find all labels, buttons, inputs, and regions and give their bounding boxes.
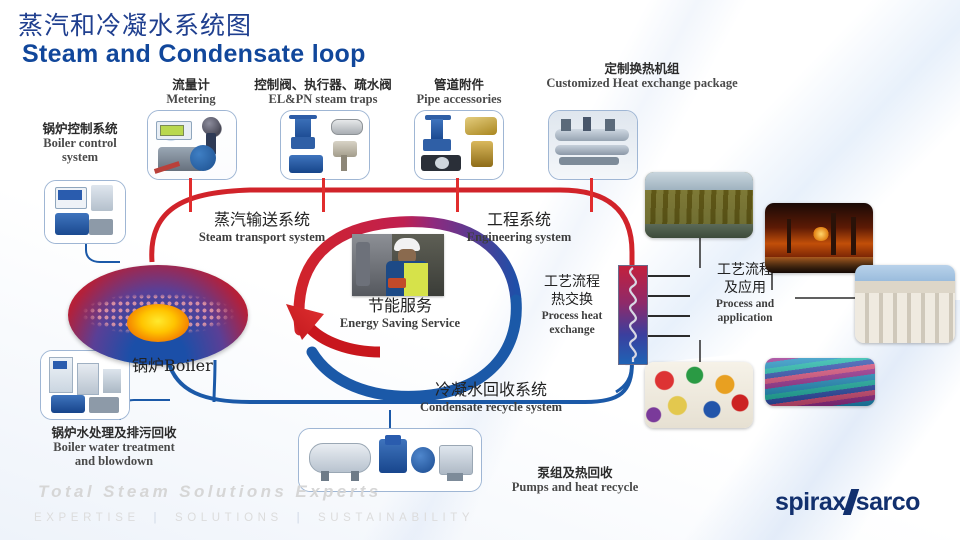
equipment-box-boiler-control[interactable] xyxy=(44,180,126,244)
caption-heat-exchange-package: 定制换热机组 Customized Heat exchange package xyxy=(522,62,762,90)
caption-pipe-accessories-cn: 管道附件 xyxy=(404,78,514,92)
label-energy-saving-en: Energy Saving Service xyxy=(310,316,490,332)
label-process-heat-en-1: Process heat xyxy=(524,309,620,323)
heat-exchanger-coil-icon xyxy=(619,266,647,364)
footer-pillar-solutions: SOLUTIONS xyxy=(175,512,283,524)
connector-metering xyxy=(189,178,192,212)
footer-divider-1: | xyxy=(148,512,168,524)
connector-steam-traps xyxy=(322,178,325,212)
caption-boiler-water-treatment-en-1: Boiler water treatment xyxy=(24,440,204,454)
footer-pillars: EXPERTISE | SOLUTIONS | SUSTAINABILITY xyxy=(34,512,474,524)
heat-exchanger[interactable] xyxy=(618,265,648,365)
pipe-accessories-photo xyxy=(415,111,503,179)
label-engineering-system-cn: 工程系统 xyxy=(444,210,594,230)
equipment-box-metering[interactable] xyxy=(147,110,237,180)
label-process-heat-cn-1: 工艺流程 xyxy=(524,274,620,292)
boiler-vessel[interactable] xyxy=(68,265,248,365)
logo-text-sarco: sarco xyxy=(856,488,920,516)
slide-canvas: 蒸汽和冷凝水系统图 Steam and Condensate loop xyxy=(0,0,960,540)
label-process-heat-exchange: 工艺流程 热交换 Process heat exchange xyxy=(524,274,620,338)
label-process-app-cn-2: 及应用 xyxy=(692,280,798,298)
boiler-control-photo xyxy=(45,181,125,243)
photo-building xyxy=(855,265,955,343)
photo-worker xyxy=(352,234,444,296)
caption-metering: 流量计 Metering xyxy=(145,78,237,106)
caption-boiler-control: 锅炉控制系统 Boiler control system xyxy=(24,122,136,164)
boiler-label: 锅炉Boiler xyxy=(132,352,213,376)
label-condensate-recycle: 冷凝水回收系统 Condensate recycle system xyxy=(396,380,586,416)
caption-boiler-control-cn: 锅炉控制系统 xyxy=(24,122,136,136)
caption-heat-exchange-package-cn: 定制换热机组 xyxy=(522,62,762,76)
connector-heat-exchange-package xyxy=(590,178,593,212)
label-process-app-en-1: Process and xyxy=(692,297,798,311)
caption-pumps-en: Pumps and heat recycle xyxy=(470,480,680,494)
label-steam-transport: 蒸汽输送系统 Steam transport system xyxy=(172,210,352,246)
label-process-heat-en-2: exchange xyxy=(524,323,620,337)
metering-photo xyxy=(148,111,236,179)
equipment-box-heat-exchange-package[interactable] xyxy=(548,110,638,180)
caption-boiler-water-treatment: 锅炉水处理及排污回收 Boiler water treatment and bl… xyxy=(24,426,204,468)
photo-pills-image xyxy=(645,362,753,428)
caption-pumps: 泵组及热回收 Pumps and heat recycle xyxy=(470,466,680,494)
connector-pipe-accessories xyxy=(456,178,459,212)
caption-boiler-water-treatment-cn: 锅炉水处理及排污回收 xyxy=(24,426,204,440)
label-process-app-en-2: application xyxy=(692,311,798,325)
caption-steam-traps-cn: 控制阀、执行器、疏水阀 xyxy=(248,78,398,92)
spirax-sarco-logo: spiraxsarco xyxy=(775,488,920,517)
caption-boiler-control-en-1: Boiler control xyxy=(24,136,136,150)
steam-traps-photo xyxy=(281,111,369,179)
footer-pillar-sustainability: SUSTAINABILITY xyxy=(318,512,474,524)
caption-steam-traps-en: EL&PN steam traps xyxy=(248,92,398,106)
equipment-box-pipe-accessories[interactable] xyxy=(414,110,504,180)
caption-boiler-control-en-2: system xyxy=(24,150,136,164)
label-energy-saving: 节能服务 Energy Saving Service xyxy=(310,296,490,332)
logo-text-spirax: spirax xyxy=(775,488,846,516)
equipment-box-steam-traps[interactable] xyxy=(280,110,370,180)
label-condensate-recycle-cn: 冷凝水回收系统 xyxy=(396,380,586,400)
caption-steam-traps: 控制阀、执行器、疏水阀 EL&PN steam traps xyxy=(248,78,398,106)
heat-exchange-package-photo xyxy=(549,111,637,179)
label-steam-transport-cn: 蒸汽输送系统 xyxy=(172,210,352,230)
caption-boiler-water-treatment-en-2: and blowdown xyxy=(24,454,204,468)
label-engineering-system: 工程系统 Engineering system xyxy=(444,210,594,246)
photo-textile xyxy=(765,358,875,406)
caption-pumps-cn: 泵组及热回收 xyxy=(470,466,680,480)
equipment-box-boiler-water-treatment[interactable] xyxy=(40,350,130,420)
photo-refinery xyxy=(765,203,873,273)
footer-tagline: Total Steam Solutions Experts xyxy=(38,482,382,502)
photo-canning xyxy=(645,172,753,238)
caption-heat-exchange-package-en: Customized Heat exchange package xyxy=(522,76,762,90)
label-steam-transport-en: Steam transport system xyxy=(172,230,352,246)
caption-pipe-accessories: 管道附件 Pipe accessories xyxy=(404,78,514,106)
label-condensate-recycle-en: Condensate recycle system xyxy=(396,400,586,416)
caption-pipe-accessories-en: Pipe accessories xyxy=(404,92,514,106)
caption-metering-en: Metering xyxy=(145,92,237,106)
label-process-heat-cn-2: 热交换 xyxy=(524,292,620,310)
label-engineering-system-en: Engineering system xyxy=(444,230,594,246)
boiler-water-treatment-photo xyxy=(41,351,129,419)
footer-divider-2: | xyxy=(291,512,311,524)
footer-pillar-expertise: EXPERTISE xyxy=(34,512,140,524)
label-energy-saving-cn: 节能服务 xyxy=(310,296,490,316)
boiler-flame xyxy=(127,304,189,342)
caption-metering-cn: 流量计 xyxy=(145,78,237,92)
photo-pills xyxy=(645,362,753,428)
